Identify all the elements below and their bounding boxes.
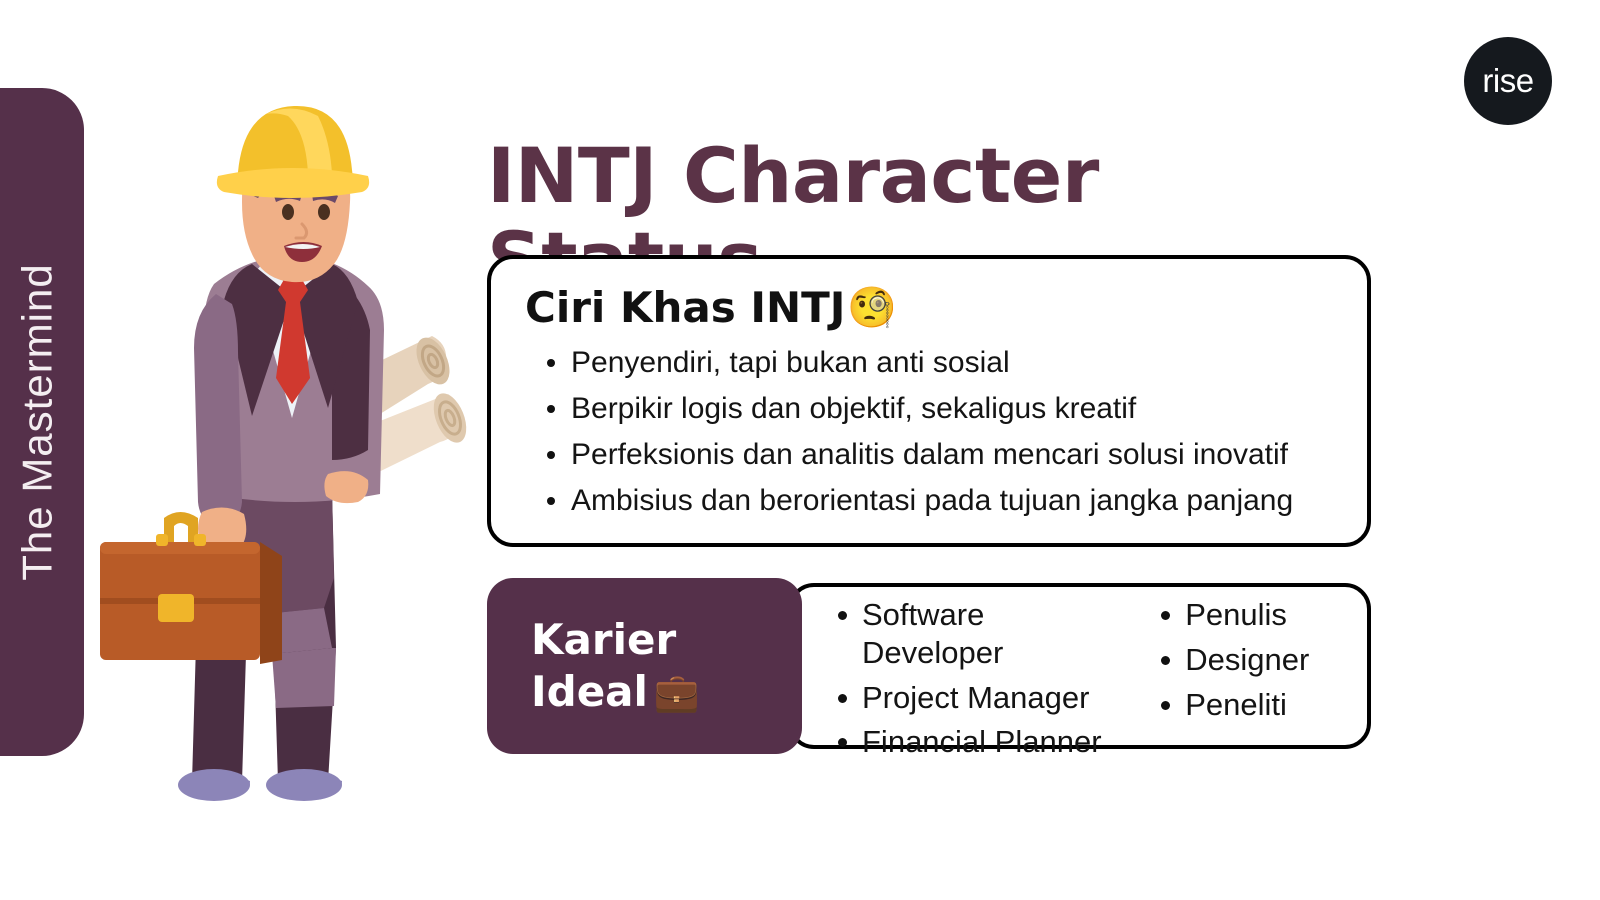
- list-item: Designer: [1155, 641, 1352, 679]
- monocle-face-icon: 🧐: [847, 288, 897, 328]
- rise-logo-text: rise: [1482, 64, 1533, 99]
- traits-heading-label: Ciri Khas INTJ: [525, 285, 845, 331]
- career-label-box: Karier Ideal 💼: [487, 578, 802, 754]
- list-item: Software Developer: [832, 596, 1127, 672]
- list-item: Peneliti: [1155, 686, 1352, 724]
- list-item: Project Manager: [832, 679, 1127, 717]
- list-item: Ambisius dan berorientasi pada tujuan ja…: [541, 483, 1333, 519]
- rise-logo[interactable]: rise: [1464, 37, 1552, 125]
- list-item: Perfeksionis dan analitis dalam mencari …: [541, 437, 1333, 473]
- traits-card: Ciri Khas INTJ 🧐 Penyendiri, tapi bukan …: [487, 255, 1371, 547]
- traits-list: Penyendiri, tapi bukan anti sosial Berpi…: [525, 345, 1333, 519]
- list-item: Penyendiri, tapi bukan anti sosial: [541, 345, 1333, 381]
- career-label-karier: Karier: [531, 614, 676, 667]
- side-tab-label: The Mastermind: [14, 263, 62, 580]
- career-columns: Software Developer Project Manager Finan…: [832, 596, 1352, 768]
- career-label-line-1: Karier: [531, 614, 802, 667]
- career-label-line-2: Ideal 💼: [531, 666, 802, 719]
- engineer-illustration: [96, 88, 488, 804]
- career-section: Software Developer Project Manager Finan…: [487, 578, 1371, 754]
- list-item: Berpikir logis dan objektif, sekaligus k…: [541, 391, 1333, 427]
- career-list-right: Penulis Designer Peneliti: [1155, 596, 1352, 768]
- career-list-left: Software Developer Project Manager Finan…: [832, 596, 1127, 768]
- career-label-ideal: Ideal: [531, 666, 648, 719]
- list-item: Penulis: [1155, 596, 1352, 634]
- briefcase-icon: 💼: [654, 674, 700, 711]
- traits-heading: Ciri Khas INTJ 🧐: [525, 285, 1333, 331]
- slide-root: The Mastermind rise: [0, 0, 1600, 900]
- list-item: Financial Planner: [832, 723, 1127, 761]
- side-tab-mastermind: The Mastermind: [0, 88, 84, 756]
